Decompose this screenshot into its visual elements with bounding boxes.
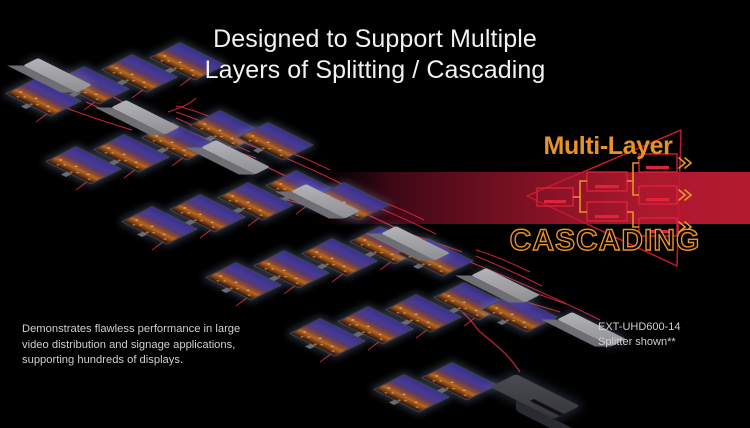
description-text: Demonstrates flawless performance in lar… (22, 322, 292, 369)
description-line-1: Demonstrates flawless performance in lar… (22, 322, 292, 338)
splitter-box (587, 202, 627, 221)
splitter-box (639, 186, 677, 204)
multi-layer-cascading-logo: Multi-Layer CASCADING (505, 126, 705, 272)
splitter-box (587, 172, 627, 191)
infographic-canvas: Designed to Support Multiple Layers of S… (0, 0, 750, 428)
device-model-number: EXT-UHD600-14 (598, 320, 748, 335)
logo-top-text: Multi-Layer (515, 132, 701, 161)
double-chevron-right-icon (679, 158, 691, 232)
description-line-2: video distribution and signage applicati… (22, 338, 292, 354)
description-line-3: supporting hundreds of displays. (22, 353, 292, 369)
logo-bottom-text: CASCADING (509, 224, 701, 258)
device-model-label: EXT-UHD600-14 Splitter shown** (598, 320, 748, 350)
device-model-note: Splitter shown** (598, 335, 748, 350)
page-title: Designed to Support Multiple Layers of S… (0, 24, 750, 86)
title-line-1: Designed to Support Multiple (0, 24, 750, 55)
source-device (490, 372, 582, 416)
title-line-2: Layers of Splitting / Cascading (0, 55, 750, 86)
